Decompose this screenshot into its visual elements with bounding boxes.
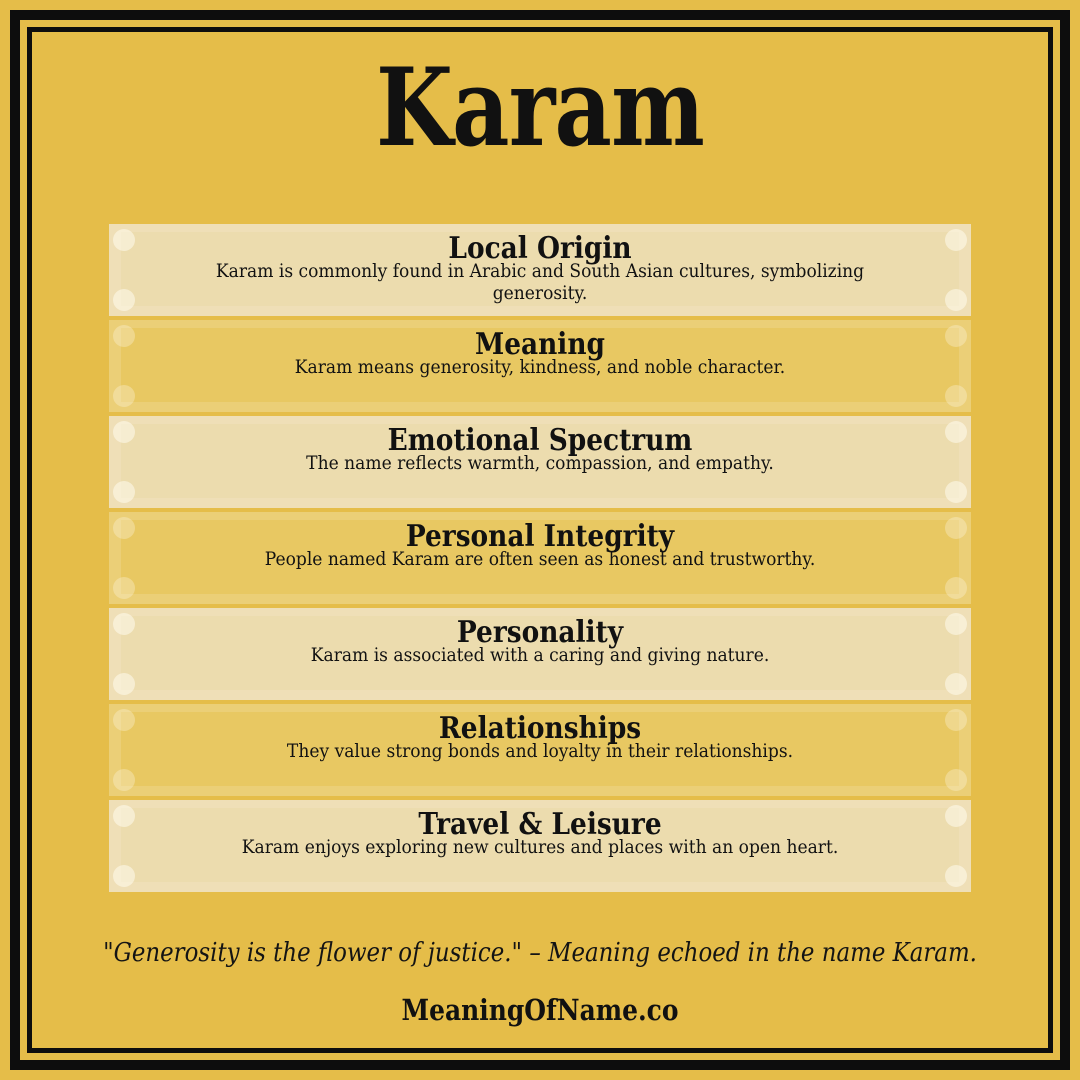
- rivet-icon: [113, 673, 135, 695]
- footer: "Generosity is the flower of justice." –…: [32, 938, 1048, 1048]
- page-title: Karam: [376, 54, 704, 162]
- rivet-icon: [945, 577, 967, 599]
- rivet-icon: [945, 481, 967, 503]
- footer-quote: "Generosity is the flower of justice." –…: [93, 938, 987, 968]
- info-card: Relationships They value strong bonds an…: [109, 704, 971, 796]
- card-description: They value strong bonds and loyalty in t…: [180, 740, 900, 762]
- card-description: Karam is associated with a caring and gi…: [180, 644, 900, 666]
- rivet-icon: [113, 577, 135, 599]
- info-card: Meaning Karam means generosity, kindness…: [109, 320, 971, 412]
- card-text-block: Relationships They value strong bonds an…: [119, 712, 961, 762]
- info-card: Personal Integrity People named Karam ar…: [109, 512, 971, 604]
- rivet-icon: [945, 673, 967, 695]
- brand-name: MeaningOfName.co: [103, 994, 977, 1026]
- content-column: Karam Local Origin Karam is commonly fou…: [32, 32, 1048, 1048]
- poster-root: Karam Local Origin Karam is commonly fou…: [0, 0, 1080, 1080]
- card-text-block: Travel & Leisure Karam enjoys exploring …: [119, 808, 961, 858]
- info-card-list: Local Origin Karam is commonly found in …: [109, 224, 971, 892]
- card-text-block: Personality Karam is associated with a c…: [119, 616, 961, 666]
- info-card: Emotional Spectrum The name reflects war…: [109, 416, 971, 508]
- card-description: People named Karam are often seen as hon…: [180, 548, 900, 570]
- rivet-icon: [945, 769, 967, 791]
- rivet-icon: [945, 865, 967, 887]
- card-text-block: Emotional Spectrum The name reflects war…: [119, 424, 961, 474]
- card-text-block: Personal Integrity People named Karam ar…: [119, 520, 961, 570]
- rivet-icon: [945, 385, 967, 407]
- info-card: Travel & Leisure Karam enjoys exploring …: [109, 800, 971, 892]
- card-text-block: Local Origin Karam is commonly found in …: [119, 232, 961, 304]
- card-description: The name reflects warmth, compassion, an…: [180, 452, 900, 474]
- rivet-icon: [113, 481, 135, 503]
- card-description: Karam means generosity, kindness, and no…: [180, 356, 900, 378]
- card-description: Karam is commonly found in Arabic and So…: [180, 260, 900, 304]
- card-description: Karam enjoys exploring new cultures and …: [180, 836, 900, 858]
- card-text-block: Meaning Karam means generosity, kindness…: [119, 328, 961, 378]
- rivet-icon: [113, 865, 135, 887]
- info-card: Personality Karam is associated with a c…: [109, 608, 971, 700]
- rivet-icon: [113, 385, 135, 407]
- info-card: Local Origin Karam is commonly found in …: [109, 224, 971, 316]
- rivet-icon: [113, 769, 135, 791]
